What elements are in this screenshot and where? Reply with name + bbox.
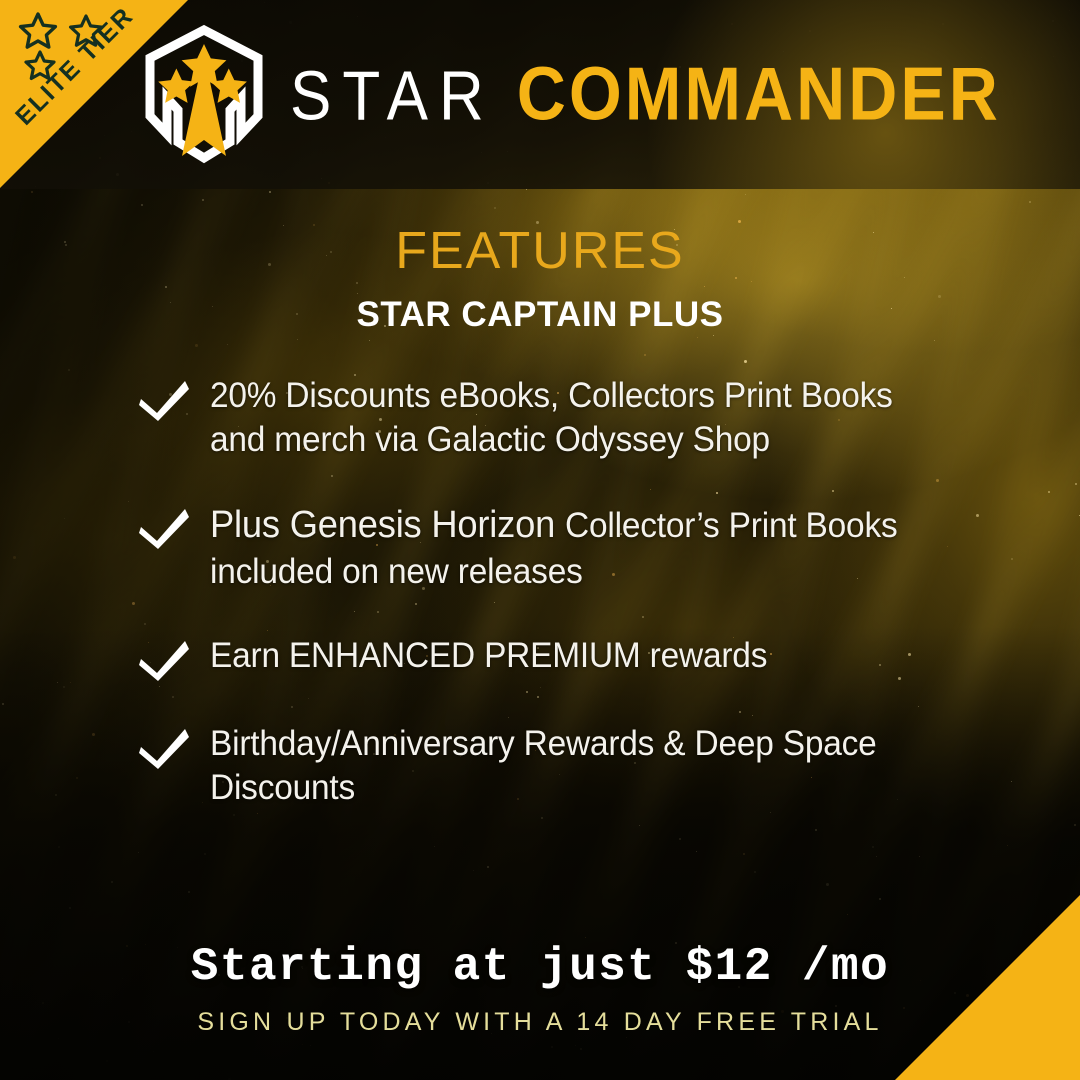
feature-text-body: 20% Discounts eBooks, Collectors Print B… — [210, 376, 893, 459]
wordmark-commander: COMMANDER — [517, 57, 1001, 132]
feature-list: 20% Discounts eBooks, Collectors Print B… — [0, 374, 1080, 810]
feature-text: Birthday/Anniversary Rewards & Deep Spac… — [210, 722, 936, 810]
features-heading: FEATURES — [0, 225, 1080, 277]
feature-item: Earn ENHANCED PREMIUM rewards — [138, 634, 970, 682]
promo-poster: STAR COMMANDER ELITE TIER FEATURES STAR … — [0, 0, 1080, 1080]
feature-item: Birthday/Anniversary Rewards & Deep Spac… — [138, 722, 970, 810]
wordmark: STAR COMMANDER — [290, 60, 1001, 128]
check-icon — [138, 508, 190, 550]
feature-text-body: Earn ENHANCED PREMIUM rewards — [210, 636, 767, 675]
check-icon — [138, 640, 190, 682]
plan-name-heading: STAR CAPTAIN PLUS — [0, 297, 1080, 332]
brand-lockup: STAR COMMANDER — [140, 18, 1001, 170]
bottom-right-accent-triangle — [895, 895, 1080, 1080]
feature-text: 20% Discounts eBooks, Collectors Print B… — [210, 374, 936, 462]
check-icon — [138, 380, 190, 422]
feature-item: 20% Discounts eBooks, Collectors Print B… — [138, 374, 970, 462]
check-icon — [138, 728, 190, 770]
feature-text: Plus Genesis Horizon Collector’s Print B… — [210, 502, 936, 594]
heading-block: FEATURES STAR CAPTAIN PLUS — [0, 189, 1080, 332]
elite-tier-badge: ELITE TIER — [0, 0, 188, 188]
feature-text-lead: Plus Genesis Horizon — [210, 504, 565, 546]
wordmark-star: STAR — [290, 62, 495, 131]
feature-text-body: Birthday/Anniversary Rewards & Deep Spac… — [210, 724, 877, 807]
feature-item: Plus Genesis Horizon Collector’s Print B… — [138, 502, 970, 594]
feature-text: Earn ENHANCED PREMIUM rewards — [210, 634, 767, 678]
